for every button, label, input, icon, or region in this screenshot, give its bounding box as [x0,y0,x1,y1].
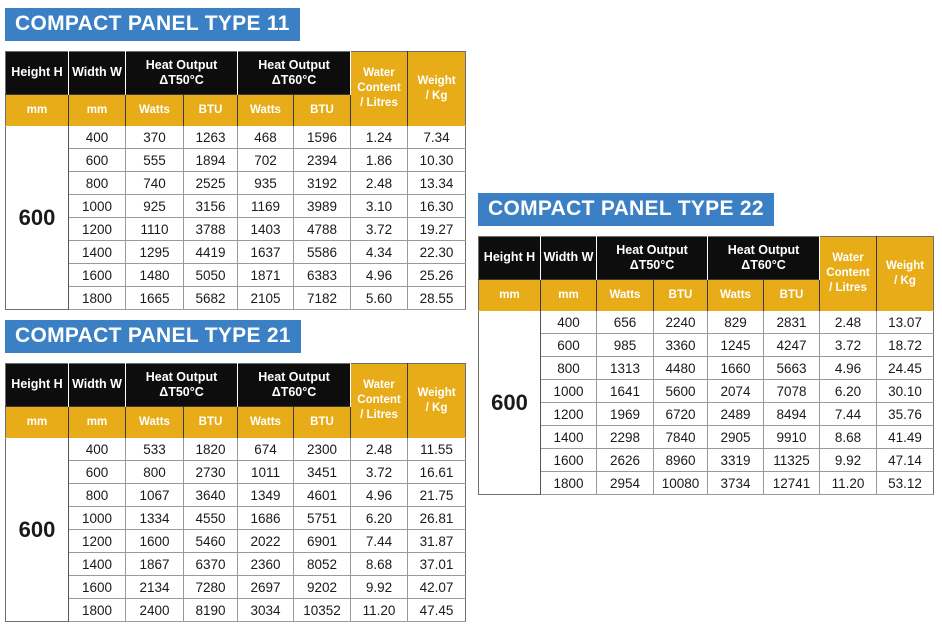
cell-water-content: 7.44 [820,403,877,426]
cell-btu-dt60: 12741 [764,472,820,495]
cell-water-content: 3.72 [820,334,877,357]
cell-btu-dt50: 7840 [654,426,708,449]
cell-weight: 30.10 [877,380,934,403]
column-header-weight: Weight/ Kg [408,364,466,438]
cell-width: 1200 [69,530,126,553]
cell-weight: 13.34 [408,172,466,195]
cell-btu-dt60: 10352 [294,599,351,622]
cell-water-content: 3.72 [351,218,408,241]
cell-btu-dt60: 2300 [294,438,351,461]
cell-water-content: 4.96 [820,357,877,380]
unit-header-dt60-watts: Watts [708,280,764,311]
table-body: 600400656224082928312.4813.0760098533601… [479,311,934,495]
cell-btu-dt60: 7078 [764,380,820,403]
cell-water-content: 11.20 [351,599,408,622]
table-header: Height HWidth WHeat OutputΔT50°CHeat Out… [6,364,466,438]
cell-weight: 28.55 [408,287,466,310]
column-header-water-content: WaterContent/ Litres [351,364,408,438]
column-header-heat-output-dt60: Heat OutputΔT60°C [238,364,351,407]
cell-btu-dt50: 5600 [654,380,708,403]
cell-btu-dt60: 2831 [764,311,820,334]
cell-btu-dt50: 5682 [184,287,238,310]
spec-table-type-22: Height HWidth WHeat OutputΔT50°CHeat Out… [478,236,934,495]
panel-block-type-21: COMPACT PANEL TYPE 21 Height HWidth WHea… [5,320,466,622]
unit-header-dt50-btu: BTU [184,407,238,438]
table-row: 180029541008037341274111.2053.12 [479,472,934,495]
cell-weight: 47.14 [877,449,934,472]
cell-watts-dt60: 1011 [238,461,294,484]
cell-watts-dt50: 740 [126,172,184,195]
cell-water-content: 2.48 [820,311,877,334]
cell-width: 1400 [69,241,126,264]
cell-watts-dt50: 1600 [126,530,184,553]
column-header-water-content: WaterContent/ Litres [820,237,877,311]
unit-header-height-mm: mm [6,407,69,438]
cell-watts-dt50: 1480 [126,264,184,287]
cell-btu-dt50: 1820 [184,438,238,461]
cell-watts-dt50: 1969 [597,403,654,426]
spec-table-type-11: Height HWidth WHeat OutputΔT50°CHeat Out… [5,51,466,310]
cell-width: 800 [69,484,126,507]
cell-btu-dt50: 3360 [654,334,708,357]
table-row: 140018676370236080528.6837.01 [6,553,466,576]
unit-header-dt60-btu: BTU [294,95,351,126]
table-body: 600400533182067423002.4811.5560080027301… [6,438,466,622]
cell-water-content: 1.24 [351,126,408,149]
cell-width: 1200 [69,218,126,241]
cell-watts-dt50: 2298 [597,426,654,449]
cell-watts-dt50: 555 [126,149,184,172]
cell-width: 1600 [69,264,126,287]
cell-width: 600 [69,149,126,172]
unit-header-width-mm: mm [69,407,126,438]
cell-btu-dt50: 6720 [654,403,708,426]
cell-water-content: 8.68 [351,553,408,576]
column-header-heat-output-dt50: Heat OutputΔT50°C [597,237,708,280]
header-row-primary: Height HWidth WHeat OutputΔT50°CHeat Out… [6,364,466,407]
unit-header-width-mm: mm [541,280,597,311]
cell-weight: 11.55 [408,438,466,461]
header-row-primary: Height HWidth WHeat OutputΔT50°CHeat Out… [6,52,466,95]
cell-watts-dt60: 1245 [708,334,764,357]
cell-btu-dt50: 6370 [184,553,238,576]
table-row: 600400656224082928312.4813.07 [479,311,934,334]
column-header-heat-output-dt60: Heat OutputΔT60°C [708,237,820,280]
unit-header-dt60-btu: BTU [294,407,351,438]
cell-watts-dt50: 1665 [126,287,184,310]
cell-width: 1600 [541,449,597,472]
unit-header-height-mm: mm [479,280,541,311]
cell-weight: 41.49 [877,426,934,449]
cell-btu-dt50: 5050 [184,264,238,287]
cell-watts-dt60: 1686 [238,507,294,530]
cell-watts-dt60: 3734 [708,472,764,495]
cell-watts-dt60: 2022 [238,530,294,553]
cell-btu-dt60: 5586 [294,241,351,264]
cell-width: 1600 [69,576,126,599]
cell-btu-dt60: 3451 [294,461,351,484]
cell-weight: 21.75 [408,484,466,507]
cell-weight: 16.61 [408,461,466,484]
cell-watts-dt60: 674 [238,438,294,461]
unit-header-height-mm: mm [6,95,69,126]
cell-watts-dt50: 985 [597,334,654,357]
column-header-water-content: WaterContent/ Litres [351,52,408,126]
panel-title-type-21: COMPACT PANEL TYPE 21 [5,320,301,353]
cell-weight: 7.34 [408,126,466,149]
cell-btu-dt50: 5460 [184,530,238,553]
cell-width: 1000 [69,195,126,218]
column-header-width: Width W [69,52,126,95]
cell-width: 1400 [541,426,597,449]
cell-height-value: 600 [6,438,69,622]
cell-watts-dt50: 1295 [126,241,184,264]
cell-watts-dt50: 1334 [126,507,184,530]
cell-watts-dt50: 2400 [126,599,184,622]
cell-water-content: 2.48 [351,438,408,461]
cell-watts-dt60: 2697 [238,576,294,599]
table-row: 600555189470223941.8610.30 [6,149,466,172]
cell-width: 400 [69,438,126,461]
table-row: 80010673640134946014.9621.75 [6,484,466,507]
unit-header-dt50-btu: BTU [184,95,238,126]
cell-watts-dt50: 925 [126,195,184,218]
cell-watts-dt60: 935 [238,172,294,195]
cell-water-content: 3.10 [351,195,408,218]
cell-btu-dt50: 2240 [654,311,708,334]
cell-weight: 18.72 [877,334,934,357]
table-row: 160014805050187163834.9625.26 [6,264,466,287]
cell-btu-dt50: 3788 [184,218,238,241]
cell-watts-dt60: 1871 [238,264,294,287]
table-row: 6008002730101134513.7216.61 [6,461,466,484]
cell-btu-dt60: 4788 [294,218,351,241]
cell-watts-dt60: 2489 [708,403,764,426]
cell-btu-dt50: 2525 [184,172,238,195]
cell-water-content: 3.72 [351,461,408,484]
spec-table-type-21: Height HWidth WHeat OutputΔT50°CHeat Out… [5,363,466,622]
unit-header-dt60-watts: Watts [238,95,294,126]
cell-watts-dt60: 829 [708,311,764,334]
cell-weight: 26.81 [408,507,466,530]
cell-btu-dt60: 8052 [294,553,351,576]
table-row: 800740252593531922.4813.34 [6,172,466,195]
cell-btu-dt60: 4247 [764,334,820,357]
cell-watts-dt60: 2360 [238,553,294,576]
table-row: 600400370126346815961.247.34 [6,126,466,149]
cell-btu-dt60: 6901 [294,530,351,553]
cell-water-content: 1.86 [351,149,408,172]
cell-btu-dt60: 1596 [294,126,351,149]
cell-height-value: 600 [479,311,541,495]
column-header-heat-output-dt50: Heat OutputΔT50°C [126,364,238,407]
cell-watts-dt60: 1403 [238,218,294,241]
cell-btu-dt50: 1894 [184,149,238,172]
cell-width: 400 [541,311,597,334]
cell-weight: 22.30 [408,241,466,264]
cell-btu-dt50: 4550 [184,507,238,530]
panel-title-type-22: COMPACT PANEL TYPE 22 [478,193,774,226]
cell-width: 1800 [69,599,126,622]
cell-watts-dt60: 2074 [708,380,764,403]
unit-header-dt50-watts: Watts [597,280,654,311]
cell-width: 800 [69,172,126,195]
cell-btu-dt50: 1263 [184,126,238,149]
cell-width: 800 [541,357,597,380]
cell-watts-dt60: 1637 [238,241,294,264]
cell-btu-dt50: 10080 [654,472,708,495]
cell-watts-dt50: 1641 [597,380,654,403]
unit-header-dt50-watts: Watts [126,95,184,126]
cell-water-content: 2.48 [351,172,408,195]
table-row: 18002400819030341035211.2047.45 [6,599,466,622]
table-row: 120019696720248984947.4435.76 [479,403,934,426]
cell-btu-dt60: 9910 [764,426,820,449]
table-row: 160021347280269792029.9242.07 [6,576,466,599]
cell-watts-dt50: 656 [597,311,654,334]
cell-watts-dt60: 2905 [708,426,764,449]
cell-width: 1000 [541,380,597,403]
column-header-heat-output-dt60: Heat OutputΔT60°C [238,52,351,95]
unit-header-dt50-watts: Watts [126,407,184,438]
cell-btu-dt50: 3156 [184,195,238,218]
cell-weight: 31.87 [408,530,466,553]
cell-watts-dt60: 3034 [238,599,294,622]
unit-header-dt50-btu: BTU [654,280,708,311]
cell-btu-dt60: 3192 [294,172,351,195]
cell-weight: 19.27 [408,218,466,241]
cell-water-content: 6.20 [820,380,877,403]
cell-watts-dt50: 1313 [597,357,654,380]
cell-weight: 16.30 [408,195,466,218]
table-row: 180016655682210571825.6028.55 [6,287,466,310]
table-header: Height HWidth WHeat OutputΔT50°CHeat Out… [479,237,934,311]
cell-watts-dt60: 468 [238,126,294,149]
cell-water-content: 7.44 [351,530,408,553]
cell-watts-dt60: 1349 [238,484,294,507]
panel-block-type-22: COMPACT PANEL TYPE 22 Height HWidth WHea… [478,193,934,495]
cell-watts-dt50: 2954 [597,472,654,495]
cell-weight: 35.76 [877,403,934,426]
table-row: 600400533182067423002.4811.55 [6,438,466,461]
unit-header-width-mm: mm [69,95,126,126]
cell-btu-dt60: 3989 [294,195,351,218]
cell-width: 600 [541,334,597,357]
table-row: 1600262689603319113259.9247.14 [479,449,934,472]
cell-height-value: 600 [6,126,69,310]
column-header-heat-output-dt50: Heat OutputΔT50°C [126,52,238,95]
cell-weight: 13.07 [877,311,934,334]
table-row: 100013344550168657516.2026.81 [6,507,466,530]
cell-width: 600 [69,461,126,484]
table-row: 100016415600207470786.2030.10 [479,380,934,403]
table-row: 120016005460202269017.4431.87 [6,530,466,553]
table-row: 140022987840290599108.6841.49 [479,426,934,449]
cell-weight: 10.30 [408,149,466,172]
cell-watts-dt50: 2626 [597,449,654,472]
cell-water-content: 4.96 [351,264,408,287]
table-body: 600400370126346815961.247.34600555189470… [6,126,466,310]
cell-btu-dt50: 7280 [184,576,238,599]
cell-btu-dt60: 8494 [764,403,820,426]
cell-width: 1400 [69,553,126,576]
cell-btu-dt60: 5751 [294,507,351,530]
cell-width: 1000 [69,507,126,530]
cell-btu-dt50: 2730 [184,461,238,484]
cell-watts-dt50: 2134 [126,576,184,599]
cell-water-content: 11.20 [820,472,877,495]
cell-water-content: 6.20 [351,507,408,530]
cell-weight: 24.45 [877,357,934,380]
cell-water-content: 5.60 [351,287,408,310]
cell-watts-dt50: 1067 [126,484,184,507]
panel-block-type-11: COMPACT PANEL TYPE 11 Height HWidth WHea… [5,8,466,310]
cell-btu-dt50: 3640 [184,484,238,507]
cell-watts-dt50: 1110 [126,218,184,241]
cell-btu-dt60: 4601 [294,484,351,507]
column-header-weight: Weight/ Kg [877,237,934,311]
cell-watts-dt60: 1660 [708,357,764,380]
table-row: 6009853360124542473.7218.72 [479,334,934,357]
cell-weight: 47.45 [408,599,466,622]
column-header-width: Width W [541,237,597,280]
cell-water-content: 9.92 [820,449,877,472]
cell-watts-dt60: 1169 [238,195,294,218]
cell-btu-dt50: 4480 [654,357,708,380]
cell-weight: 25.26 [408,264,466,287]
table-row: 140012954419163755864.3422.30 [6,241,466,264]
cell-weight: 37.01 [408,553,466,576]
cell-watts-dt50: 533 [126,438,184,461]
cell-btu-dt50: 8960 [654,449,708,472]
table-row: 120011103788140347883.7219.27 [6,218,466,241]
cell-width: 1200 [541,403,597,426]
panel-title-type-11: COMPACT PANEL TYPE 11 [5,8,300,41]
cell-btu-dt50: 8190 [184,599,238,622]
cell-watts-dt60: 2105 [238,287,294,310]
cell-btu-dt60: 5663 [764,357,820,380]
cell-watts-dt60: 3319 [708,449,764,472]
column-header-width: Width W [69,364,126,407]
cell-watts-dt50: 800 [126,461,184,484]
cell-watts-dt50: 370 [126,126,184,149]
cell-watts-dt60: 702 [238,149,294,172]
table-row: 80013134480166056634.9624.45 [479,357,934,380]
cell-btu-dt60: 7182 [294,287,351,310]
cell-btu-dt50: 4419 [184,241,238,264]
cell-btu-dt60: 11325 [764,449,820,472]
unit-header-dt60-watts: Watts [238,407,294,438]
cell-water-content: 4.96 [351,484,408,507]
cell-water-content: 9.92 [351,576,408,599]
cell-width: 1800 [541,472,597,495]
table-row: 10009253156116939893.1016.30 [6,195,466,218]
cell-weight: 42.07 [408,576,466,599]
cell-water-content: 4.34 [351,241,408,264]
header-row-primary: Height HWidth WHeat OutputΔT50°CHeat Out… [479,237,934,280]
cell-watts-dt50: 1867 [126,553,184,576]
cell-btu-dt60: 2394 [294,149,351,172]
cell-weight: 53.12 [877,472,934,495]
column-header-height: Height H [6,364,69,407]
table-header: Height HWidth WHeat OutputΔT50°CHeat Out… [6,52,466,126]
cell-water-content: 8.68 [820,426,877,449]
cell-width: 400 [69,126,126,149]
cell-width: 1800 [69,287,126,310]
cell-btu-dt60: 6383 [294,264,351,287]
cell-btu-dt60: 9202 [294,576,351,599]
column-header-height: Height H [6,52,69,95]
unit-header-dt60-btu: BTU [764,280,820,311]
column-header-height: Height H [479,237,541,280]
column-header-weight: Weight/ Kg [408,52,466,126]
